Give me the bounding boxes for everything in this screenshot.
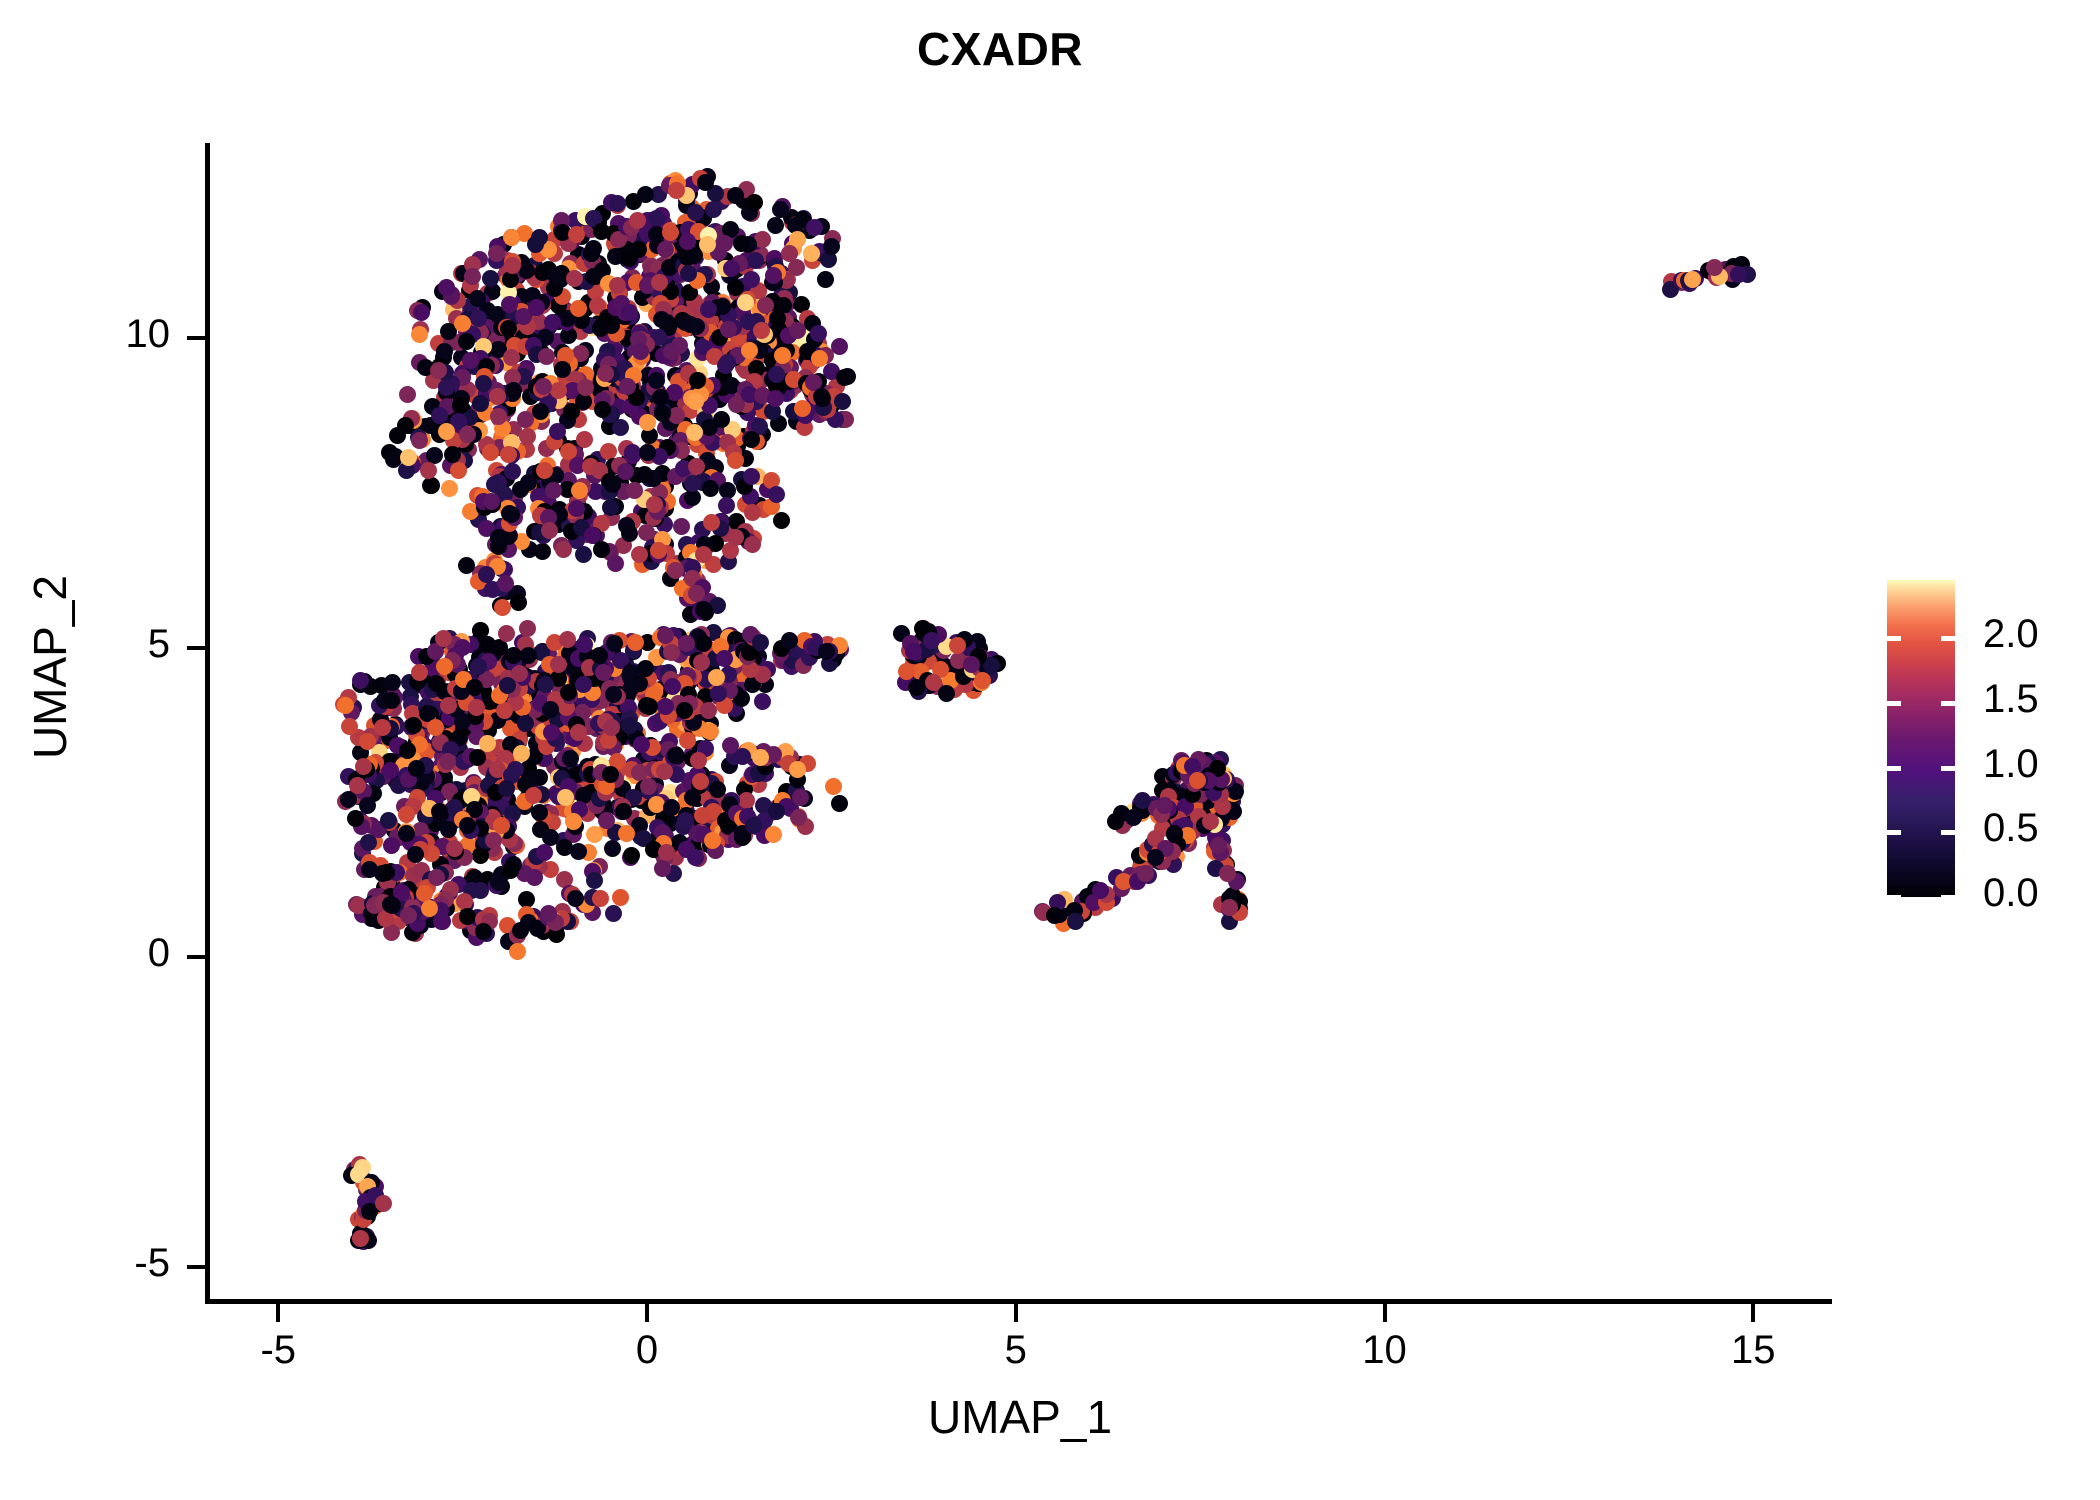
scatter-point bbox=[744, 536, 761, 553]
scatter-point bbox=[560, 684, 577, 701]
scatter-point bbox=[397, 417, 414, 434]
scatter-point bbox=[806, 219, 823, 236]
x-tick-label: 5 bbox=[936, 1328, 1096, 1373]
scatter-point bbox=[458, 557, 475, 574]
y-axis-label: UMAP_2 bbox=[23, 317, 77, 1017]
scatter-point bbox=[662, 224, 679, 241]
scatter-point bbox=[542, 701, 559, 718]
scatter-point bbox=[472, 847, 489, 864]
scatter-point bbox=[438, 423, 455, 440]
scatter-point bbox=[519, 428, 536, 445]
scatter-point bbox=[428, 675, 445, 692]
x-tick-mark bbox=[1751, 1304, 1755, 1322]
x-tick-mark bbox=[276, 1304, 280, 1322]
x-tick-label: 0 bbox=[567, 1328, 727, 1373]
scatter-point bbox=[592, 890, 609, 907]
scatter-point bbox=[383, 692, 400, 709]
x-axis-label: UMAP_1 bbox=[0, 1390, 2040, 1444]
scatter-point bbox=[702, 723, 719, 740]
scatter-point bbox=[774, 347, 791, 364]
scatter-point bbox=[408, 760, 425, 777]
scatter-point bbox=[352, 1230, 369, 1247]
scatter-point bbox=[536, 462, 553, 479]
scatter-point bbox=[898, 663, 915, 680]
scatter-point bbox=[503, 229, 520, 246]
scatter-point bbox=[1134, 792, 1151, 809]
scatter-point bbox=[623, 679, 640, 696]
scatter-point bbox=[602, 499, 619, 516]
scatter-point bbox=[652, 389, 669, 406]
scatter-point bbox=[598, 812, 615, 829]
colorbar-tick-label: 1.5 bbox=[1983, 677, 2039, 722]
scatter-point bbox=[444, 446, 461, 463]
scatter-point bbox=[503, 506, 520, 523]
scatter-point bbox=[459, 426, 476, 443]
scatter-point bbox=[534, 543, 551, 560]
scatter-point bbox=[1156, 797, 1173, 814]
scatter-point bbox=[439, 753, 456, 770]
scatter-point bbox=[693, 654, 710, 671]
scatter-point bbox=[400, 907, 417, 924]
scatter-point bbox=[621, 525, 638, 542]
colorbar-tick-mark bbox=[1941, 830, 1955, 835]
scatter-point bbox=[1684, 271, 1701, 288]
scatter-point bbox=[435, 630, 452, 647]
scatter-point bbox=[606, 635, 623, 652]
scatter-point bbox=[657, 698, 674, 715]
scatter-point bbox=[650, 542, 667, 559]
scatter-point bbox=[605, 905, 622, 922]
scatter-point bbox=[656, 763, 673, 780]
scatter-point bbox=[612, 889, 629, 906]
colorbar-tick-mark bbox=[1941, 766, 1955, 771]
scatter-point bbox=[773, 512, 790, 529]
scatter-point bbox=[454, 639, 471, 656]
scatter-point bbox=[640, 778, 657, 795]
scatter-point bbox=[654, 860, 671, 877]
scatter-point bbox=[509, 943, 526, 960]
scatter-point bbox=[593, 223, 610, 240]
scatter-point bbox=[745, 817, 762, 834]
scatter-point bbox=[411, 326, 428, 343]
scatter-point bbox=[702, 480, 719, 497]
scatter-point bbox=[398, 825, 415, 842]
scatter-point bbox=[359, 733, 376, 750]
scatter-point bbox=[423, 477, 440, 494]
scatter-point bbox=[537, 676, 554, 693]
scatter-point bbox=[1219, 865, 1236, 882]
scatter-point bbox=[545, 482, 562, 499]
scatter-point bbox=[349, 777, 366, 794]
scatter-point bbox=[454, 713, 471, 730]
scatter-point bbox=[768, 486, 785, 503]
scatter-point bbox=[905, 643, 922, 660]
colorbar-tick-mark bbox=[1887, 895, 1901, 900]
scatter-point bbox=[576, 431, 593, 448]
scatter-point bbox=[679, 249, 696, 266]
scatter-point bbox=[609, 277, 626, 294]
scatter-point bbox=[638, 524, 655, 541]
scatter-point bbox=[908, 679, 925, 696]
scatter-point bbox=[639, 414, 656, 431]
scatter-point bbox=[818, 643, 835, 660]
scatter-point bbox=[602, 766, 619, 783]
scatter-point bbox=[1202, 813, 1219, 830]
scatter-point bbox=[768, 803, 785, 820]
scatter-point bbox=[733, 235, 750, 252]
scatter-point bbox=[583, 245, 600, 262]
scatter-point bbox=[700, 301, 717, 318]
scatter-point bbox=[754, 693, 771, 710]
scatter-point bbox=[556, 839, 573, 856]
colorbar-tick-label: 2.0 bbox=[1983, 612, 2039, 657]
scatter-point bbox=[550, 382, 567, 399]
scatter-point bbox=[1189, 772, 1206, 789]
scatter-point bbox=[428, 869, 445, 886]
scatter-point bbox=[459, 908, 476, 925]
scatter-point bbox=[753, 322, 770, 339]
scatter-point bbox=[746, 194, 763, 211]
scatter-point bbox=[697, 174, 714, 191]
scatter-point bbox=[519, 620, 536, 637]
scatter-point bbox=[405, 717, 422, 734]
scatter-point bbox=[540, 905, 557, 922]
scatter-point bbox=[657, 627, 674, 644]
scatter-point bbox=[1210, 837, 1227, 854]
scatter-point bbox=[497, 575, 514, 592]
scatter-point bbox=[648, 796, 665, 813]
scatter-point bbox=[382, 762, 399, 779]
scatter-point bbox=[454, 315, 471, 332]
scatter-point bbox=[767, 217, 784, 234]
y-tick-mark bbox=[187, 1265, 205, 1269]
scatter-point bbox=[383, 837, 400, 854]
scatter-point bbox=[550, 656, 567, 673]
scatter-point bbox=[667, 747, 684, 764]
scatter-point bbox=[949, 637, 966, 654]
scatter-point bbox=[686, 424, 703, 441]
scatter-point bbox=[352, 672, 369, 689]
scatter-point bbox=[535, 378, 552, 395]
scatter-point bbox=[618, 825, 635, 842]
scatter-point bbox=[765, 267, 782, 284]
scatter-point bbox=[604, 840, 621, 857]
scatter-point bbox=[1221, 899, 1238, 916]
scatter-point bbox=[498, 625, 515, 642]
scatter-point bbox=[663, 799, 680, 816]
y-tick-mark bbox=[187, 955, 205, 959]
scatter-point bbox=[831, 795, 848, 812]
scatter-point bbox=[639, 444, 656, 461]
scatter-point bbox=[615, 803, 632, 820]
colorbar-tick-mark bbox=[1941, 895, 1955, 900]
x-tick-mark bbox=[645, 1304, 649, 1322]
scatter-point bbox=[716, 650, 733, 667]
scatter-point bbox=[421, 900, 438, 917]
scatter-point bbox=[568, 500, 585, 517]
colorbar-tick-mark bbox=[1887, 701, 1901, 706]
scatter-point bbox=[718, 497, 735, 514]
x-tick-label: 15 bbox=[1673, 1328, 1833, 1373]
scatter-point bbox=[734, 748, 751, 765]
scatter-point bbox=[547, 267, 564, 284]
scatter-point bbox=[341, 718, 358, 735]
scatter-point bbox=[440, 697, 457, 714]
scatter-point bbox=[355, 758, 372, 775]
scatter-point bbox=[464, 268, 481, 285]
scatter-point bbox=[466, 679, 483, 696]
scatter-point bbox=[925, 674, 942, 691]
scatter-point bbox=[586, 872, 603, 889]
scatter-point bbox=[754, 231, 771, 248]
scatter-point bbox=[1137, 865, 1154, 882]
scatter-point bbox=[502, 862, 519, 879]
scatter-point bbox=[723, 260, 740, 277]
scatter-point bbox=[441, 480, 458, 497]
scatter-point bbox=[727, 452, 744, 469]
scatter-point bbox=[459, 817, 476, 834]
scatter-point bbox=[554, 361, 571, 378]
scatter-point bbox=[504, 463, 521, 480]
scatter-point bbox=[483, 493, 500, 510]
y-tick-mark bbox=[187, 646, 205, 650]
scatter-point bbox=[359, 797, 376, 814]
scatter-point bbox=[705, 201, 722, 218]
scatter-point bbox=[517, 411, 534, 428]
scatter-point bbox=[549, 423, 566, 440]
scatter-point bbox=[803, 245, 820, 262]
scatter-point bbox=[378, 864, 395, 881]
scatter-point bbox=[694, 807, 711, 824]
scatter-point bbox=[555, 541, 572, 558]
scatter-point bbox=[673, 518, 690, 535]
scatter-point bbox=[701, 419, 718, 436]
scatter-point bbox=[687, 393, 704, 410]
scatter-point bbox=[490, 408, 507, 425]
colorbar-tick-mark bbox=[1887, 636, 1901, 641]
scatter-point bbox=[570, 724, 587, 741]
colorbar-tick-mark bbox=[1941, 701, 1955, 706]
scatter-point bbox=[765, 826, 782, 843]
scatter-point bbox=[974, 672, 991, 689]
scatter-point bbox=[482, 444, 499, 461]
scatter-point bbox=[604, 476, 621, 493]
scatter-point bbox=[470, 310, 487, 327]
scatter-point bbox=[676, 702, 693, 719]
scatter-point bbox=[531, 804, 548, 821]
scatter-point bbox=[603, 719, 620, 736]
scatter-point bbox=[1107, 813, 1124, 830]
scatter-point bbox=[696, 602, 713, 619]
colorbar-tick-label: 0.5 bbox=[1983, 806, 2039, 851]
scatter-point bbox=[586, 826, 603, 843]
scatter-point bbox=[512, 922, 529, 939]
scatter-point bbox=[568, 226, 585, 243]
scatter-point bbox=[767, 390, 784, 407]
scatter-point bbox=[607, 555, 624, 572]
scatter-point bbox=[710, 685, 727, 702]
scatter-point bbox=[664, 678, 681, 695]
scatter-point bbox=[1125, 809, 1142, 826]
scatter-point bbox=[337, 697, 354, 714]
scatter-point bbox=[825, 778, 842, 795]
scatter-point bbox=[523, 770, 540, 787]
scatter-point bbox=[817, 271, 834, 288]
scatter-point bbox=[575, 676, 592, 693]
x-tick-mark bbox=[1014, 1304, 1018, 1322]
x-tick-label: 10 bbox=[1305, 1328, 1465, 1373]
scatter-point bbox=[541, 522, 558, 539]
scatter-point bbox=[781, 632, 798, 649]
scatter-point bbox=[591, 647, 608, 664]
scatter-point bbox=[413, 304, 430, 321]
scatter-point bbox=[814, 390, 831, 407]
page-title: CXADR bbox=[0, 22, 2000, 76]
scatter-point bbox=[398, 806, 415, 823]
scatter-point bbox=[525, 787, 542, 804]
scatter-point bbox=[963, 656, 980, 673]
scatter-point bbox=[526, 869, 543, 886]
scatter-point bbox=[680, 265, 697, 282]
scatter-point bbox=[411, 664, 428, 681]
scatter-point bbox=[450, 462, 467, 479]
scatter-point bbox=[678, 635, 695, 652]
scatter-point bbox=[520, 647, 537, 664]
scatter-point bbox=[810, 325, 827, 342]
scatter-point bbox=[407, 846, 424, 863]
scatter-point bbox=[436, 658, 453, 675]
scatter-point bbox=[744, 504, 761, 521]
scatter-point bbox=[700, 702, 717, 719]
scatter-point bbox=[688, 458, 705, 475]
colorbar-gradient bbox=[1887, 580, 1955, 897]
scatter-point bbox=[532, 403, 549, 420]
scatter-point bbox=[667, 562, 684, 579]
scatter-point bbox=[677, 314, 694, 331]
scatter-point bbox=[709, 781, 726, 798]
scatter-point bbox=[517, 715, 534, 732]
scatter-point bbox=[469, 290, 486, 307]
scatter-point bbox=[575, 546, 592, 563]
scatter-point bbox=[494, 599, 511, 616]
scatter-point bbox=[462, 352, 479, 369]
scatter-point bbox=[438, 379, 455, 396]
scatter-point bbox=[400, 449, 417, 466]
scatter-point bbox=[593, 541, 610, 558]
colorbar-tick-mark bbox=[1941, 636, 1955, 641]
scatter-point bbox=[688, 585, 705, 602]
scatter-point bbox=[446, 840, 463, 857]
scatter-point bbox=[663, 343, 680, 360]
scatter-point bbox=[658, 844, 675, 861]
scatter-point bbox=[619, 378, 636, 395]
y-tick-mark bbox=[187, 336, 205, 340]
scatter-point bbox=[1067, 913, 1084, 930]
colorbar-tick-mark bbox=[1887, 830, 1901, 835]
scatter-point bbox=[727, 529, 744, 546]
x-tick-label: -5 bbox=[198, 1328, 358, 1373]
scatter-point bbox=[716, 235, 733, 252]
scatter-point bbox=[527, 236, 544, 253]
scatter-point bbox=[752, 749, 769, 766]
scatter-point bbox=[557, 789, 574, 806]
y-tick-label: -5 bbox=[0, 1241, 170, 1286]
scatter-point bbox=[823, 238, 840, 255]
scatter-point bbox=[375, 1195, 392, 1212]
scatter-point bbox=[719, 354, 736, 371]
scatter-point bbox=[399, 386, 416, 403]
scatter-point bbox=[420, 462, 437, 479]
scatter-point bbox=[631, 546, 648, 563]
scatter-point bbox=[617, 463, 634, 480]
scatter-point bbox=[468, 699, 485, 716]
scatter-point bbox=[684, 789, 701, 806]
scatter-point bbox=[505, 647, 522, 664]
scatter-point bbox=[637, 186, 654, 203]
scatter-point bbox=[627, 634, 644, 651]
scatter-point bbox=[513, 745, 530, 762]
scatter-point bbox=[431, 407, 448, 424]
scatter-point bbox=[496, 702, 513, 719]
colorbar-tick-mark bbox=[1887, 766, 1901, 771]
scatter-point bbox=[834, 393, 851, 410]
scatter-point bbox=[752, 634, 769, 651]
scatter-point bbox=[612, 419, 629, 436]
colorbar-tick-label: 0.0 bbox=[1983, 871, 2039, 916]
scatter-point bbox=[475, 375, 492, 392]
scatter-point bbox=[458, 333, 475, 350]
scatter-plot-panel[interactable] bbox=[207, 145, 1830, 1302]
scatter-point bbox=[374, 719, 391, 736]
scatter-point bbox=[567, 890, 584, 907]
scatter-point bbox=[360, 834, 377, 851]
scatter-point bbox=[695, 635, 712, 652]
scatter-point bbox=[811, 350, 828, 367]
scatter-point bbox=[536, 844, 553, 861]
scatter-point bbox=[488, 245, 505, 262]
scatter-point bbox=[633, 736, 650, 753]
scatter-point bbox=[684, 475, 701, 492]
x-tick-mark bbox=[1383, 1304, 1387, 1322]
scatter-point bbox=[489, 388, 506, 405]
scatter-point bbox=[512, 481, 529, 498]
scatter-point bbox=[384, 674, 401, 691]
colorbar-tick-label: 1.0 bbox=[1983, 742, 2039, 787]
scatter-point bbox=[563, 403, 580, 420]
